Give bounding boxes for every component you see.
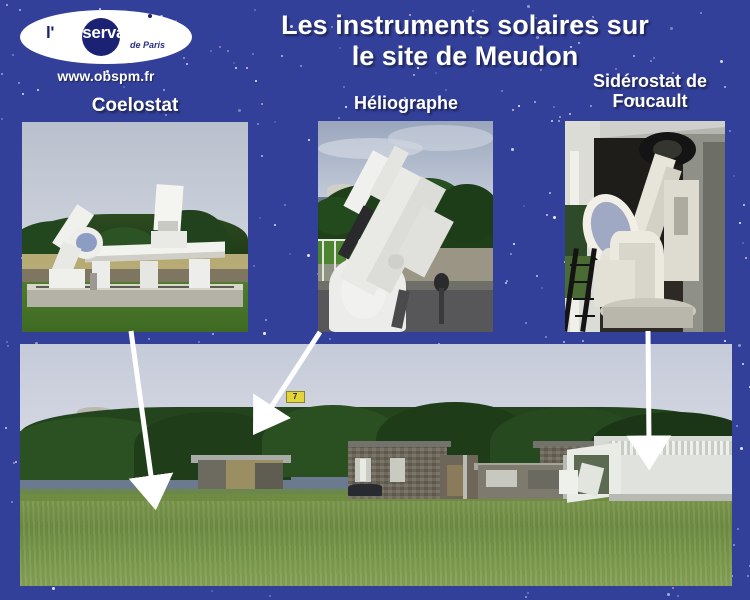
caption-coelostat: Coelostat xyxy=(22,96,248,117)
building-number-text: 7 xyxy=(293,393,297,401)
logo-wordmark-pre: l' xyxy=(46,23,54,42)
observatoire-de-paris-logo: l'bservatoire de Paris xyxy=(20,10,192,64)
caption-heliographe: Héliographe xyxy=(318,94,494,114)
poster: l'bservatoire de Paris www.obspm.fr Les … xyxy=(0,0,750,600)
caption-siderostat: Sidérostat de Foucault xyxy=(560,72,740,112)
page-title: Les instruments solaires sur le site de … xyxy=(205,10,725,72)
caption-siderostat-line-2: Foucault xyxy=(560,92,740,112)
building-number-sign: 7 xyxy=(286,391,305,403)
page-title-line-1: Les instruments solaires sur xyxy=(205,10,725,41)
website-url[interactable]: www.obspm.fr xyxy=(20,68,192,84)
caption-siderostat-line-1: Sidérostat de xyxy=(560,72,740,92)
page-title-line-2: le site de Meudon xyxy=(205,41,725,72)
photo-siderostat xyxy=(565,121,725,332)
logo-dot-icon xyxy=(148,14,152,18)
logo-o-ring-icon xyxy=(54,22,73,41)
logo-subtitle: de Paris xyxy=(130,40,165,50)
photo-heliographe xyxy=(318,121,493,332)
photo-coelostat xyxy=(22,122,248,332)
photo-panorama-meudon-site: 7 xyxy=(20,344,732,586)
